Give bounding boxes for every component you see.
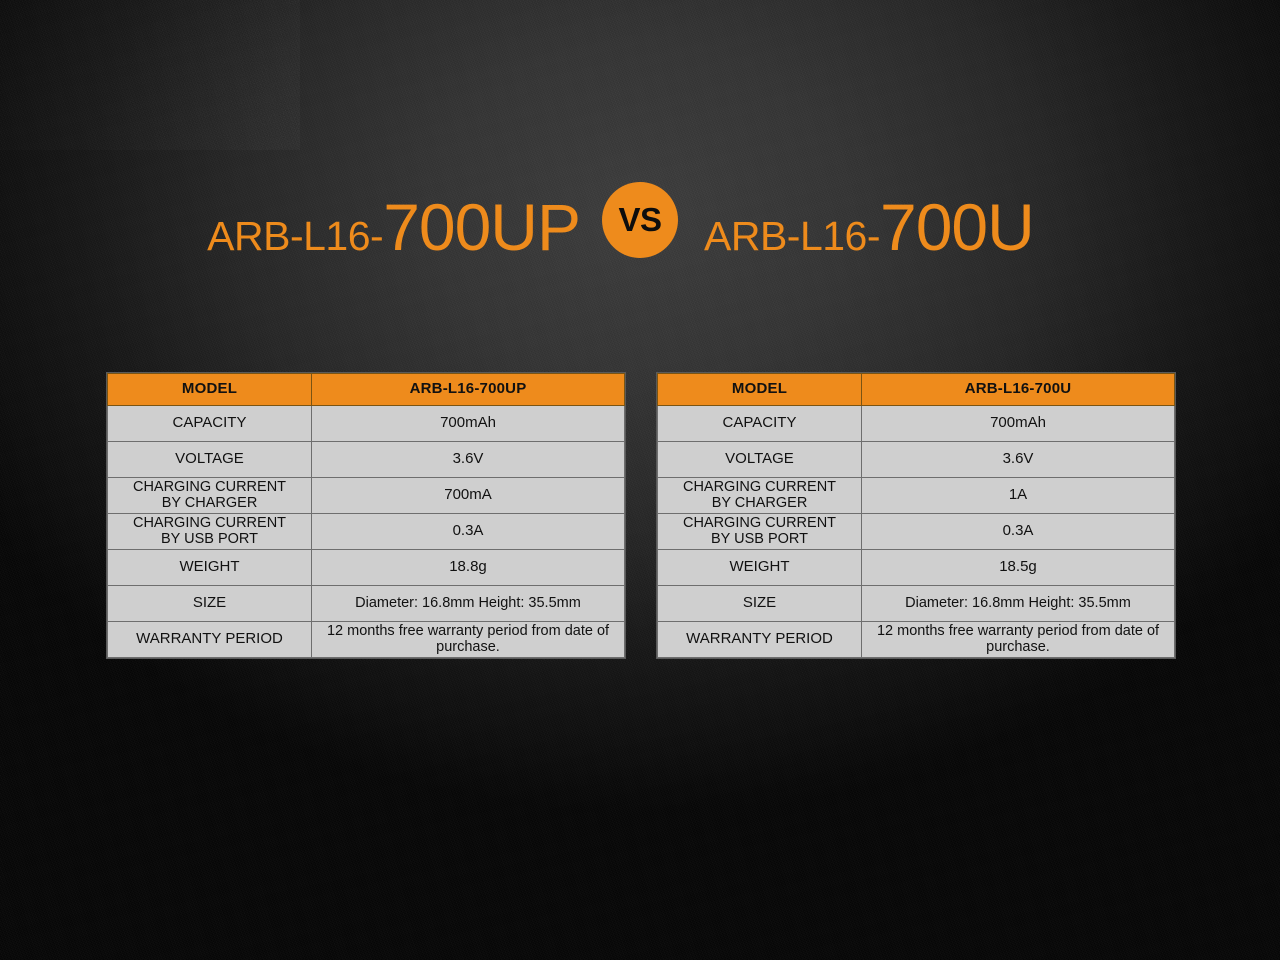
label-line-2: BY CHARGER (712, 495, 808, 511)
row-label-voltage: VOLTAGE (108, 442, 312, 478)
row-label-weight: WEIGHT (108, 550, 312, 586)
row-value-weight: 18.8g (312, 550, 625, 586)
column-header-model: MODEL (658, 374, 862, 406)
row-value-charging-current-by-charger: 700mA (312, 478, 625, 514)
row-value-charging-current-by-usb-port: 0.3A (312, 514, 625, 550)
row-label-warranty-period: WARRANTY PERIOD (108, 622, 312, 658)
right-product-title: ARB-L16-700U (678, 194, 1130, 260)
label-line-2: BY CHARGER (162, 495, 258, 511)
table-row: VOLTAGE 3.6V (658, 442, 1175, 478)
row-label-capacity: CAPACITY (658, 406, 862, 442)
column-header-model: MODEL (108, 374, 312, 406)
table-row: WARRANTY PERIOD 12 months free warranty … (108, 622, 625, 658)
table-row: CAPACITY 700mAh (108, 406, 625, 442)
vs-badge-label: VS (618, 201, 661, 239)
column-header-product: ARB-L16-700U (862, 374, 1175, 406)
row-label-charging-current-by-usb-port: CHARGING CURRENT BY USB PORT (108, 514, 312, 550)
row-label-warranty-period: WARRANTY PERIOD (658, 622, 862, 658)
table-row: SIZE Diameter: 16.8mm Height: 35.5mm (658, 586, 1175, 622)
row-label-charging-current-by-charger: CHARGING CURRENT BY CHARGER (658, 478, 862, 514)
table-row: CHARGING CURRENT BY USB PORT 0.3A (108, 514, 625, 550)
row-value-weight: 18.5g (862, 550, 1175, 586)
row-value-capacity: 700mAh (862, 406, 1175, 442)
label-line-2: BY USB PORT (161, 531, 258, 547)
row-value-charging-current-by-charger: 1A (862, 478, 1175, 514)
table-row: CHARGING CURRENT BY USB PORT 0.3A (658, 514, 1175, 550)
table-row: WEIGHT 18.8g (108, 550, 625, 586)
label-line-1: CHARGING CURRENT (683, 479, 836, 495)
title-row: ARB-L16-700UP VS ARB-L16-700U (0, 176, 1280, 260)
label-line-1: CHARGING CURRENT (133, 515, 286, 531)
table-row: SIZE Diameter: 16.8mm Height: 35.5mm (108, 586, 625, 622)
row-label-charging-current-by-usb-port: CHARGING CURRENT BY USB PORT (658, 514, 862, 550)
table-row: CHARGING CURRENT BY CHARGER 1A (658, 478, 1175, 514)
row-label-size: SIZE (108, 586, 312, 622)
label-line-2: BY USB PORT (711, 531, 808, 547)
column-header-product: ARB-L16-700UP (312, 374, 625, 406)
row-label-charging-current-by-charger: CHARGING CURRENT BY CHARGER (108, 478, 312, 514)
table-row: CHARGING CURRENT BY CHARGER 700mA (108, 478, 625, 514)
table-row: WARRANTY PERIOD 12 months free warranty … (658, 622, 1175, 658)
table-row: CAPACITY 700mAh (658, 406, 1175, 442)
vs-badge: VS (602, 182, 678, 258)
row-label-voltage: VOLTAGE (658, 442, 862, 478)
left-product-title: ARB-L16-700UP (150, 194, 602, 260)
right-product-prefix: ARB-L16- (704, 216, 880, 257)
spec-table-left: MODEL ARB-L16-700UP CAPACITY 700mAh VOLT… (107, 373, 625, 658)
row-label-capacity: CAPACITY (108, 406, 312, 442)
right-product-suffix: 700U (880, 194, 1034, 260)
table-row: WEIGHT 18.5g (658, 550, 1175, 586)
spec-table-right: MODEL ARB-L16-700U CAPACITY 700mAh VOLTA… (657, 373, 1175, 658)
row-value-size: Diameter: 16.8mm Height: 35.5mm (312, 586, 625, 622)
row-value-size: Diameter: 16.8mm Height: 35.5mm (862, 586, 1175, 622)
table-header-row: MODEL ARB-L16-700UP (108, 374, 625, 406)
table-row: VOLTAGE 3.6V (108, 442, 625, 478)
table-header-row: MODEL ARB-L16-700U (658, 374, 1175, 406)
left-product-suffix: 700UP (383, 194, 580, 260)
row-label-weight: WEIGHT (658, 550, 862, 586)
left-product-prefix: ARB-L16- (207, 216, 383, 257)
row-value-warranty-period: 12 months free warranty period from date… (312, 622, 625, 658)
label-line-1: CHARGING CURRENT (683, 515, 836, 531)
label-line-1: CHARGING CURRENT (133, 479, 286, 495)
row-label-size: SIZE (658, 586, 862, 622)
row-value-capacity: 700mAh (312, 406, 625, 442)
row-value-charging-current-by-usb-port: 0.3A (862, 514, 1175, 550)
row-value-voltage: 3.6V (862, 442, 1175, 478)
comparison-page: ARB-L16-700UP VS ARB-L16-700U MODEL ARB-… (0, 0, 1280, 960)
row-value-voltage: 3.6V (312, 442, 625, 478)
background-texture (0, 0, 300, 150)
row-value-warranty-period: 12 months free warranty period from date… (862, 622, 1175, 658)
